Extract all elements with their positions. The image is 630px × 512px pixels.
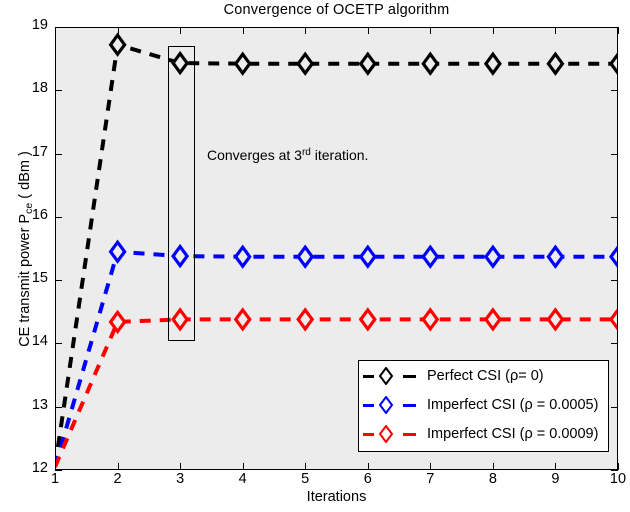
y-tick-mark	[55, 280, 62, 281]
legend-item-perfect-csi[interactable]: Perfect CSI (ρ= 0)	[359, 361, 608, 390]
y-tick-label: 16	[8, 208, 48, 223]
legend-dash-left-icon	[363, 404, 374, 407]
diamond-marker-icon	[377, 396, 395, 414]
legend-item-imperfect-csi-0009[interactable]: Imperfect CSI (ρ = 0.0009)	[359, 419, 608, 448]
y-tick-mark-right	[611, 280, 618, 281]
annotation-text-superscript: rd	[302, 147, 311, 158]
convergence-highlight-box	[168, 46, 195, 341]
chart-title: Convergence of OCETP algorithm	[55, 2, 618, 18]
legend-dash-left-icon	[363, 375, 374, 378]
x-tick-label: 5	[285, 472, 325, 487]
annotation-text-before: Converges at 3	[207, 147, 302, 163]
x-tick-mark-top	[118, 27, 119, 34]
x-tick-mark	[305, 463, 306, 470]
legend-item-imperfect-csi-0005[interactable]: Imperfect CSI (ρ = 0.0005)	[359, 390, 608, 419]
legend-dash-right-icon	[403, 404, 416, 407]
diamond-marker-icon	[377, 425, 395, 443]
x-tick-mark	[430, 463, 431, 470]
x-tick-mark	[118, 463, 119, 470]
y-tick-mark-right	[611, 154, 618, 155]
y-tick-mark	[55, 343, 62, 344]
legend-sample-red	[363, 422, 425, 446]
legend-label-imperfect-csi-0005: Imperfect CSI (ρ = 0.0005)	[427, 397, 598, 413]
x-tick-mark-top	[243, 27, 244, 34]
x-tick-mark	[618, 463, 619, 470]
y-tick-mark	[55, 27, 62, 28]
x-tick-mark-top	[555, 27, 556, 34]
x-axis-label: Iterations	[55, 489, 618, 505]
x-tick-label: 9	[535, 472, 575, 487]
x-tick-mark-top	[180, 27, 181, 34]
y-tick-mark-right	[611, 407, 618, 408]
y-tick-mark	[55, 154, 62, 155]
x-tick-label: 6	[348, 472, 388, 487]
legend-label-perfect-csi: Perfect CSI (ρ= 0)	[427, 368, 544, 384]
x-tick-mark-top	[368, 27, 369, 34]
diamond-marker-icon	[377, 367, 395, 385]
x-tick-mark-top	[430, 27, 431, 34]
y-tick-mark	[55, 90, 62, 91]
x-tick-label: 10	[598, 472, 630, 487]
y-tick-label: 18	[8, 81, 48, 96]
x-tick-mark-top	[305, 27, 306, 34]
y-tick-mark-right	[611, 27, 618, 28]
x-tick-label: 8	[473, 472, 513, 487]
x-tick-mark	[55, 463, 56, 470]
chart-legend[interactable]: Perfect CSI (ρ= 0) Imperfect CSI (ρ = 0.…	[358, 360, 609, 452]
y-tick-mark-right	[611, 343, 618, 344]
x-tick-label: 1	[35, 472, 75, 487]
annotation-text-after: iteration.	[311, 147, 369, 163]
convergence-annotation: Converges at 3rd iteration.	[207, 147, 368, 163]
x-tick-mark-top	[493, 27, 494, 34]
x-tick-mark-top	[55, 27, 56, 34]
y-tick-label: 19	[8, 18, 48, 33]
chart-figure: Convergence of OCETP algorithm CE transm…	[0, 0, 630, 512]
x-tick-mark	[243, 463, 244, 470]
x-tick-mark	[493, 463, 494, 470]
y-tick-mark-right	[611, 90, 618, 91]
x-tick-mark	[180, 463, 181, 470]
y-tick-label: 14	[8, 334, 48, 349]
x-tick-mark-top	[618, 27, 619, 34]
x-tick-label: 3	[160, 472, 200, 487]
y-tick-mark	[55, 407, 62, 408]
legend-dash-right-icon	[403, 433, 416, 436]
legend-label-imperfect-csi-0009: Imperfect CSI (ρ = 0.0009)	[427, 426, 598, 442]
legend-sample-black	[363, 364, 425, 388]
y-tick-mark-right	[611, 217, 618, 218]
y-tick-label: 13	[8, 398, 48, 413]
x-tick-mark	[555, 463, 556, 470]
x-tick-label: 2	[98, 472, 138, 487]
x-tick-mark	[368, 463, 369, 470]
y-tick-label: 17	[8, 145, 48, 160]
x-tick-label: 4	[223, 472, 263, 487]
legend-dash-right-icon	[403, 375, 416, 378]
y-tick-label: 15	[8, 271, 48, 286]
legend-dash-left-icon	[363, 433, 374, 436]
x-tick-label: 7	[410, 472, 450, 487]
legend-sample-blue	[363, 393, 425, 417]
y-tick-mark	[55, 217, 62, 218]
